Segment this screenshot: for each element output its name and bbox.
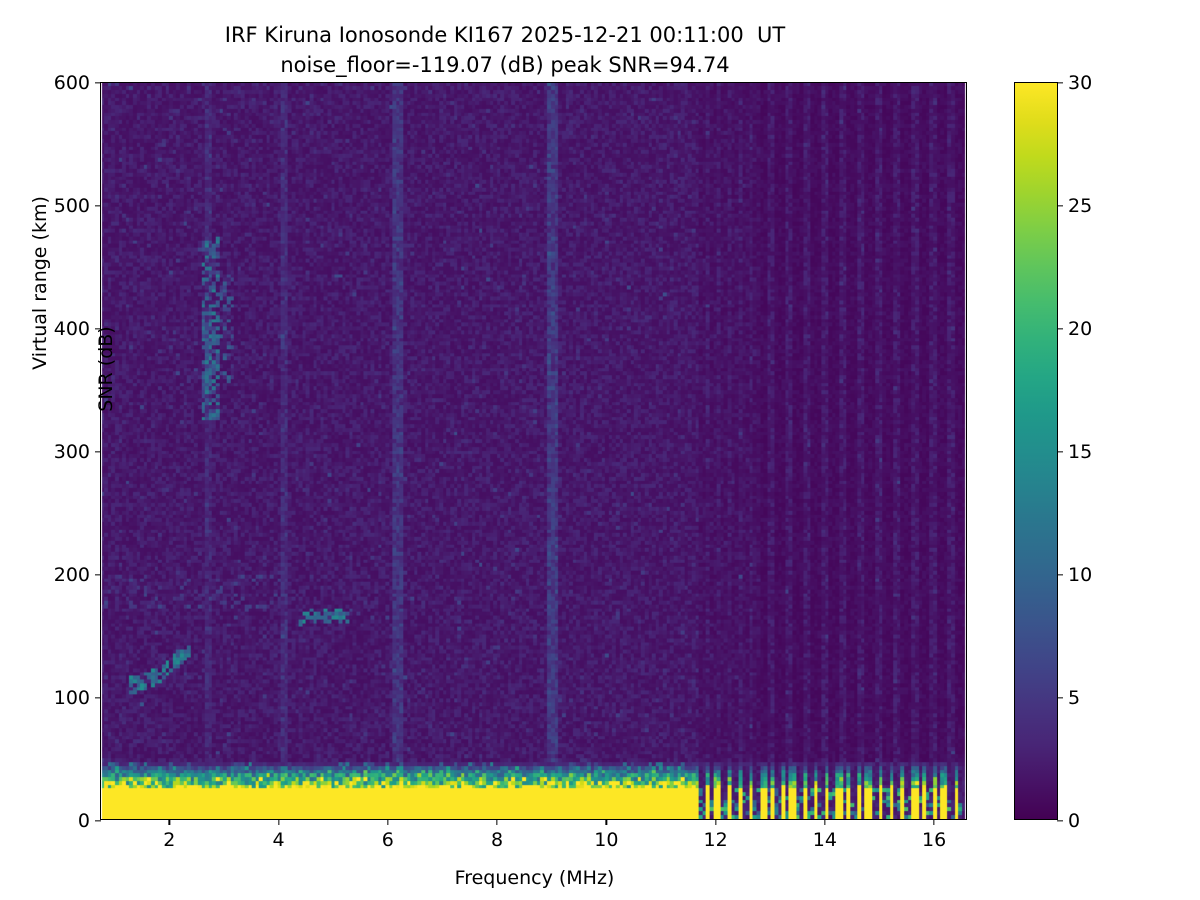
- ionogram-figure: IRF Kiruna Ionosonde KI167 2025-12-21 00…: [0, 0, 1200, 900]
- y-tick-label: 500: [54, 195, 101, 217]
- figure-title: IRF Kiruna Ionosonde KI167 2025-12-21 00…: [0, 20, 1010, 80]
- x-tick-label: 10: [594, 819, 618, 851]
- x-tick-label: 2: [163, 819, 175, 851]
- colorbar-tick-label: 15: [1057, 441, 1092, 463]
- y-axis-label: Virtual range (km): [29, 183, 51, 383]
- figure-title-line1: IRF Kiruna Ionosonde KI167 2025-12-21 00…: [225, 23, 785, 47]
- ionogram-heatmap-canvas: [101, 83, 966, 819]
- x-tick-label: 14: [813, 819, 837, 851]
- x-tick-label: 16: [922, 819, 946, 851]
- ionogram-plot-area[interactable]: 0100200300400500600 246810121416 Virtual…: [100, 82, 967, 820]
- colorbar-tick-label: 0: [1057, 810, 1080, 832]
- y-tick-label: 200: [54, 564, 101, 586]
- colorbar-tick-label: 5: [1057, 687, 1080, 709]
- y-tick-label: 100: [54, 687, 101, 709]
- y-tick-label: 0: [78, 810, 101, 832]
- x-tick-label: 6: [382, 819, 394, 851]
- colorbar[interactable]: 051015202530: [1014, 82, 1058, 820]
- colorbar-label: SNR (dB): [95, 259, 117, 479]
- colorbar-tick-label: 25: [1057, 195, 1092, 217]
- colorbar-tick-label: 30: [1057, 72, 1092, 94]
- y-tick-label: 400: [54, 318, 101, 340]
- x-axis-label: Frequency (MHz): [101, 867, 968, 889]
- colorbar-gradient: [1015, 83, 1057, 819]
- y-tick-label: 600: [54, 72, 101, 94]
- x-tick-label: 8: [491, 819, 503, 851]
- figure-title-line2: noise_floor=-119.07 (dB) peak SNR=94.74: [280, 53, 729, 77]
- colorbar-tick-label: 10: [1057, 564, 1092, 586]
- y-tick-label: 300: [54, 441, 101, 463]
- colorbar-tick-label: 20: [1057, 318, 1092, 340]
- x-tick-label: 12: [704, 819, 728, 851]
- x-tick-label: 4: [273, 819, 285, 851]
